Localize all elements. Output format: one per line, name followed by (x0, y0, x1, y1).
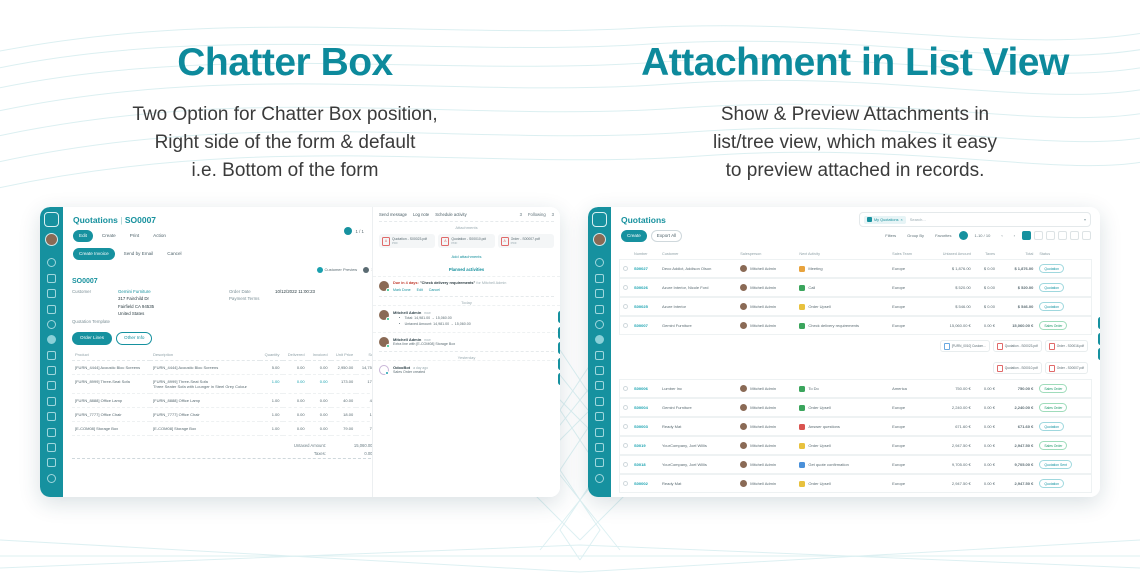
customer-preview-button[interactable]: Customer Preview (317, 267, 358, 273)
settings-icon[interactable] (47, 474, 56, 483)
cell-quantity: 5.00 (260, 360, 283, 374)
payment-terms-label: Payment Terms (229, 296, 275, 301)
messages-icon[interactable] (595, 258, 604, 267)
attachment-chip[interactable]: A Order - S00007.pdf PDF (498, 234, 554, 248)
activity-icon (799, 304, 805, 310)
fields-left-column: CustomerGemini Furniture 317 Fairchild D… (72, 289, 229, 327)
col-taxes[interactable]: Taxes (974, 250, 998, 258)
col-number[interactable]: Number (631, 250, 659, 258)
address-line-1: 317 Fairchild Dr (118, 296, 149, 301)
attachment-chip[interactable]: Order - S00016.pdf (1045, 340, 1088, 352)
status-dot (386, 288, 390, 292)
cell-salesperson: Mitchell Admin (750, 462, 776, 467)
cancel-activity-button[interactable]: Cancel (429, 288, 440, 292)
status-badge: Quotation Sent (1039, 460, 1072, 469)
contacts-icon[interactable] (595, 305, 604, 314)
subtitle-line: i.e. Bottom of the form (0, 157, 570, 185)
planned-activities-header[interactable]: Planned activities (373, 263, 560, 276)
cell-delivered: 0.00 (283, 360, 308, 374)
subtitle-line: Right side of the form & default (0, 129, 570, 157)
cell-number[interactable]: S00004 (634, 405, 648, 410)
send-message-button[interactable]: Send message (379, 212, 407, 217)
search-icon[interactable]: ⌕ (1098, 333, 1100, 345)
cell-salesperson: Mitchell Admin (750, 443, 776, 448)
following-button[interactable]: Following (528, 212, 546, 217)
cancel-button[interactable]: Cancel (162, 249, 186, 259)
table-row[interactable]: S00006Lumber IncMitchell AdminTo DoAmeri… (620, 380, 1091, 397)
order-date-label: Order Date (229, 289, 275, 294)
view-controls: Filters Group By Favorites 1-10 / 10 ‹ › (850, 227, 1100, 243)
cell-total: $ 546.00 (998, 298, 1036, 315)
cell-sales-team: Europe (889, 418, 925, 435)
inventory-icon[interactable] (595, 366, 604, 375)
cell-salesperson: Mitchell Admin (750, 323, 776, 328)
avatar (740, 404, 747, 411)
order-totals: Untaxed Amount:15,060.00 € Taxes:0.00 € … (72, 442, 386, 460)
cell-description: [FURN_8888] Office Lamp (150, 393, 260, 407)
avatar (740, 284, 747, 291)
purchase-icon[interactable] (47, 397, 56, 406)
cell-next-activity: Order Upsell (808, 405, 830, 410)
cell-invoiced: 0.00 (308, 407, 331, 421)
manufacturing-icon[interactable] (595, 381, 604, 390)
invoicing-icon[interactable] (47, 351, 56, 360)
attachment-chip[interactable]: A Quotation - S00023.pdf PDF (379, 234, 435, 248)
attachment-chip[interactable]: A Quotation - S00010.pdf PDF (438, 234, 494, 248)
col-salesperson[interactable]: Salesperson (737, 250, 796, 258)
close-icon[interactable]: × (900, 218, 902, 222)
table-row[interactable]: S00007Gemini FurnitureMitchell AdminChec… (620, 317, 1091, 334)
cell-unit-price: 40.00 (331, 393, 357, 407)
table-row[interactable]: S0018YourCompany, Joel WillisMitchell Ad… (620, 456, 1091, 473)
sales-icon[interactable] (595, 335, 604, 344)
taxes-value: 0.00 € (336, 451, 376, 456)
table-footer-totals: $6,771.60 0.00 $6,771.60 (611, 494, 1100, 497)
pivot-view-icon[interactable] (1058, 231, 1067, 240)
cell-taxes: 0.00 € (974, 437, 998, 454)
website-icon[interactable] (47, 412, 56, 421)
cell-product: [E-COM08] Storage Box (72, 421, 150, 435)
list-view-icon[interactable] (1022, 231, 1031, 240)
cell-number[interactable]: S00003 (634, 424, 648, 429)
cell-untaxed: 9,705.00 € (926, 456, 974, 473)
order-lines-table: Product Description Quantity Delivered I… (72, 349, 386, 436)
avatar-bot (379, 365, 389, 375)
grid-icon[interactable]: ▦ (1098, 348, 1100, 360)
cell-total: 2,947.50 € (998, 437, 1036, 454)
avatar (740, 265, 747, 272)
star-icon[interactable]: ★ (1098, 317, 1100, 329)
activity-view-icon[interactable] (1082, 231, 1091, 240)
row-checkbox[interactable] (620, 456, 631, 473)
col-invoiced[interactable]: Invoiced (308, 349, 331, 361)
search-icon[interactable]: ⌕ (558, 327, 560, 339)
export-all-button[interactable]: Export All (651, 230, 682, 242)
day-separator-yesterday: Yesterday (379, 351, 554, 360)
status-badge: Quotation (1039, 479, 1064, 488)
eye-icon (317, 267, 323, 273)
favorites-button[interactable]: Favorites (931, 231, 955, 240)
followers-count[interactable]: 3 (520, 212, 522, 217)
list-view-mockup: Quotations Create Export All My Quotatio… (588, 207, 1100, 497)
status-badge: Quotation (1039, 422, 1064, 431)
select-all-checkbox[interactable] (620, 250, 631, 258)
cell-number[interactable]: S0018 (634, 462, 646, 467)
message-author: Mitchell Admin (393, 310, 421, 315)
message-body: Extra line with [E-COM08] Storage Box (393, 342, 554, 347)
cell-invoiced: 0.00 (308, 421, 331, 435)
cell-taxes: 0.00 € (974, 475, 998, 492)
activity-icon (799, 424, 805, 430)
form-sheet: Customer Preview 1 Delivery SO0007 Custo… (63, 264, 395, 460)
filter-icon (867, 217, 872, 222)
floating-action-buttons: ★ ⌕ ▦ ⚙ ▣ (558, 311, 560, 385)
cell-taxes: $ 0.00 (974, 260, 998, 277)
cell-sales-team: Europe (889, 279, 925, 296)
chevron-down-icon[interactable]: ▾ (1084, 217, 1086, 222)
status-badge: Sales Order (1039, 321, 1067, 330)
col-sales-team[interactable]: Sales Team (889, 250, 925, 258)
form-fields: CustomerGemini Furniture 317 Fairchild D… (63, 289, 395, 327)
cell-product: [FURN_7777] Office Chair (72, 407, 150, 421)
row-checkbox[interactable] (620, 279, 631, 296)
website-icon[interactable] (595, 412, 604, 421)
message-body: Sales Order created (393, 370, 554, 375)
attachment-toggle-icon[interactable] (959, 231, 968, 240)
cell-unit-price: 18.00 (331, 407, 357, 421)
print-button[interactable]: Print (125, 231, 144, 241)
table-row[interactable]: [FURN_7777] Office Chair [FURN_7777] Off… (72, 407, 386, 421)
pdf-icon (1049, 343, 1055, 350)
address-line-2: Fairfield CA 94535 (118, 304, 154, 309)
form-notebook-tabs: Order Lines Other Info (63, 326, 395, 349)
calendar-icon[interactable] (595, 289, 604, 298)
form-view-mockup: Quotations | SO0007 Edit Create Print Ac… (40, 207, 560, 497)
cell-sales-team: Europe (889, 475, 925, 492)
table-row[interactable]: S00027Deco Addict, Addison OlsonMitchell… (620, 260, 1091, 277)
crm-icon[interactable] (47, 320, 56, 329)
log-note-button[interactable]: Log note (413, 212, 429, 217)
edit-button[interactable]: Edit (73, 230, 93, 242)
cell-customer: Gemini Furniture (659, 317, 737, 334)
settings-icon[interactable] (595, 474, 604, 483)
cell-sales-team: Europe (889, 456, 925, 473)
messages-icon[interactable] (47, 258, 56, 267)
avatar (740, 385, 747, 392)
contacts-icon[interactable] (47, 305, 56, 314)
cell-salesperson: Mitchell Admin (750, 285, 776, 290)
search-bar[interactable]: My Quotations × Search... ▾ (859, 212, 1091, 227)
customer-value[interactable]: Gemini Furniture (118, 289, 151, 294)
graph-view-icon[interactable] (1070, 231, 1079, 240)
cell-sales-team: Europe (889, 399, 925, 416)
message-time: now (424, 311, 430, 315)
attachment-name: [FURN_0010] Custom... (952, 344, 986, 348)
tab-other-info[interactable]: Other Info (116, 332, 152, 345)
cell-unit-price: 173.00 (331, 374, 357, 393)
purchase-icon[interactable] (595, 397, 604, 406)
crm-icon[interactable] (595, 320, 604, 329)
search-facet-my-quotations[interactable]: My Quotations × (864, 216, 906, 224)
col-product[interactable]: Product (72, 349, 150, 361)
col-description[interactable]: Description (150, 349, 260, 361)
cell-product: [FURN_8888] Office Lamp (72, 393, 150, 407)
cell-number[interactable]: S0019 (634, 443, 646, 448)
cell-untaxed: 2,240.00 € (926, 399, 974, 416)
table-row[interactable]: [FURN_8888] Office Lamp [FURN_8888] Offi… (72, 393, 386, 407)
cell-number[interactable]: S00006 (634, 386, 648, 391)
table-row[interactable]: S0019YourCompany, Joel WillisMitchell Ad… (620, 437, 1091, 454)
status-dot (386, 344, 390, 348)
table-row[interactable]: [E-COM08] Storage Box [E-COM08] Storage … (72, 421, 386, 435)
star-icon[interactable]: ★ (558, 311, 560, 323)
status-dot (385, 371, 389, 375)
table-row[interactable]: S00025Azure InteriorMitchell AdminOrder … (620, 298, 1091, 315)
blank-label (72, 296, 118, 301)
manufacturing-icon[interactable] (47, 381, 56, 390)
col-unit-price[interactable]: Unit Price (331, 349, 357, 361)
cell-customer: Azure Interior (659, 298, 737, 315)
avatar (379, 337, 389, 347)
cell-next-activity: Meeting (808, 266, 822, 271)
table-body: S00027Deco Addict, Addison OlsonMitchell… (620, 260, 1091, 492)
cell-total: 2,240.00 € (998, 399, 1036, 416)
calendar-view-icon[interactable] (1046, 231, 1055, 240)
cell-taxes: 0.00 € (974, 380, 998, 397)
col-quantity[interactable]: Quantity (260, 349, 283, 361)
col-total[interactable]: Total (998, 250, 1036, 258)
status-badge: Quotation (1039, 264, 1064, 273)
cell-untaxed: 750.00 € (926, 380, 974, 397)
settings-icon[interactable]: ⚙ (558, 358, 560, 370)
form-view-body: Quotations | SO0007 Edit Create Print Ac… (63, 207, 560, 497)
apps-icon[interactable] (47, 458, 56, 467)
cell-number[interactable]: S00025 (634, 304, 648, 309)
col-status[interactable]: Status (1036, 250, 1091, 258)
app-sidebar[interactable] (588, 207, 611, 497)
cell-sales-team: America (889, 380, 925, 397)
row-checkbox[interactable] (620, 260, 631, 277)
panel-subtitle: Two Option for Chatter Box position, Rig… (0, 101, 570, 185)
avatar (740, 442, 747, 449)
table-row[interactable]: S00003Ready MatMitchell AdminAnswer ques… (620, 418, 1091, 435)
cell-customer: YourCompany, Joel Willis (659, 437, 737, 454)
untaxed-value: 15,060.00 € (336, 443, 376, 448)
blank-label (72, 311, 118, 316)
fields-right-column: Order Date10/12/2022 11:00:23 Payment Te… (229, 289, 386, 327)
employees-icon[interactable] (595, 428, 604, 437)
activity-icon (799, 481, 805, 487)
cell-description: [FURN_8999] Three-Seat Sofa Three Seater… (150, 374, 260, 393)
attachment-chip[interactable]: [FURN_0010] Custom... (940, 340, 990, 352)
cell-taxes: 0.00 € (974, 418, 998, 435)
schedule-activity-button[interactable]: Schedule activity (435, 212, 466, 217)
cell-salesperson: Mitchell Admin (750, 386, 776, 391)
total-row: Taxes:0.00 € (72, 450, 376, 458)
row-checkbox[interactable] (620, 475, 631, 492)
cell-unit-price: 2,950.00 (331, 360, 357, 374)
recruitment-icon[interactable] (47, 443, 56, 452)
attachment-type: PDF (451, 241, 457, 245)
invoicing-icon[interactable] (595, 351, 604, 360)
action-button[interactable]: Action (148, 231, 171, 241)
table-row[interactable]: [FURN_8999] Three-Seat Sofa [FURN_8999] … (72, 374, 386, 393)
cell-taxes: 0.00 € (974, 456, 998, 473)
pdf-icon (997, 365, 1003, 372)
cell-untaxed: 2,947.50 € (926, 475, 974, 492)
search-input[interactable]: Search... (910, 217, 1080, 222)
cell-invoiced: 0.00 (308, 360, 331, 374)
calendar-icon[interactable] (47, 289, 56, 298)
smart-button-label: Customer Preview (325, 267, 358, 272)
app-sidebar[interactable] (40, 207, 63, 497)
pager-prev-icon[interactable]: ‹ (997, 231, 1006, 240)
cell-customer: Gemini Furniture (659, 399, 737, 416)
pdf-icon (997, 343, 1003, 350)
megaphone-icon[interactable] (47, 274, 56, 283)
row-checkbox[interactable] (620, 380, 631, 397)
message-item: Mitchell Adminnow Extra line with [E-COM… (373, 332, 560, 351)
table-row[interactable]: S00002Ready MatMitchell AdminOrder Upsel… (620, 475, 1091, 492)
cell-number[interactable]: S00007 (634, 323, 648, 328)
attachment-chip[interactable]: Quotation - S00010.pdf (993, 362, 1042, 374)
cell-total: $ 1,876.00 (998, 260, 1036, 277)
cell-number[interactable]: S00026 (634, 285, 648, 290)
list-toolbar: Create Export All (611, 230, 850, 248)
tab-order-lines[interactable]: Order Lines (72, 332, 112, 345)
attachment-row: [FURN_0010] Custom...Quotation - S00023.… (620, 336, 1091, 356)
cell-quantity: 1.00 (260, 393, 283, 407)
avatar[interactable] (593, 233, 606, 246)
row-checkbox[interactable] (620, 317, 631, 334)
pager[interactable]: 1 / 1 (344, 227, 364, 235)
col-next-activity[interactable]: Next Activity (796, 250, 889, 258)
attachment-type: PDF (392, 241, 398, 245)
row-checkbox[interactable] (620, 437, 631, 454)
cell-description: [FURN_4444] Acoustic Bloc Screens (150, 360, 260, 374)
send-by-email-button[interactable]: Send by Email (119, 249, 159, 259)
cell-total: 15,060.00 € (998, 317, 1036, 334)
row-checkbox[interactable] (620, 399, 631, 416)
pager-label[interactable]: 1-10 / 10 (971, 231, 995, 240)
followers-total[interactable]: 3 (552, 212, 554, 217)
cell-sales-team: Europe (889, 437, 925, 454)
cell-customer: Lumber Inc (659, 380, 737, 397)
status-badge: Sales Order (1039, 441, 1067, 450)
activity-icon (799, 405, 805, 411)
grid-icon[interactable]: ▦ (558, 342, 560, 354)
create-button[interactable]: Create (621, 230, 647, 242)
pager-next-icon[interactable]: › (1010, 231, 1019, 240)
order-date-value: 10/12/2022 11:00:23 (275, 289, 315, 294)
cell-customer: Azure Interior, Nicole Ford (659, 279, 737, 296)
cell-number[interactable]: S00027 (634, 266, 648, 271)
activity-actions: Mark Done Edit Cancel (393, 285, 554, 292)
cell-next-activity: Order Upsell (808, 481, 830, 486)
activity-icon (799, 266, 805, 272)
avatar (740, 423, 747, 430)
apps-icon[interactable] (595, 458, 604, 467)
cell-next-activity: To Do (808, 386, 818, 391)
table-row[interactable]: [FURN_4444] Acoustic Bloc Screens [FURN_… (72, 360, 386, 374)
breadcrumb-root[interactable]: Quotations (73, 215, 118, 225)
sales-icon[interactable] (47, 335, 56, 344)
cell-description: [E-COM08] Storage Box (150, 421, 260, 435)
cell-salesperson: Mitchell Admin (750, 424, 776, 429)
activity-title: "Check delivery requirements" (420, 281, 476, 285)
total-row: Total:15,060.00 € (72, 458, 376, 460)
row-checkbox[interactable] (620, 418, 631, 435)
cell-next-activity: Call (808, 285, 815, 290)
inventory-icon[interactable] (47, 366, 56, 375)
avatar (740, 322, 747, 329)
chatter-toolbar: Send message Log note Schedule activity … (373, 207, 560, 221)
app-icon[interactable]: ▣ (558, 373, 560, 385)
floating-action-buttons: ★ ⌕ ▦ (1098, 317, 1100, 360)
panel-title: Attachment in List View (570, 42, 1140, 85)
cell-invoiced: 0.00 (308, 393, 331, 407)
table-row[interactable]: S00026Azure Interior, Nicole FordMitchel… (620, 279, 1091, 296)
breadcrumb-record: SO0007 (125, 215, 156, 225)
activity-icon (799, 323, 805, 329)
cell-customer: Ready Mat (659, 475, 737, 492)
app-logo-icon (592, 212, 607, 227)
cell-delivered: 0.00 (283, 407, 308, 421)
cell-next-activity: Order Upsell (808, 304, 830, 309)
attachment-chip[interactable]: Order - S00007.pdf (1045, 362, 1088, 374)
recruitment-icon[interactable] (595, 443, 604, 452)
create-invoice-button[interactable]: Create Invoice (73, 248, 115, 260)
group-by-button[interactable]: Group By (903, 231, 928, 240)
activity-due: Due in 4 days: (393, 281, 419, 285)
create-button[interactable]: Create (97, 231, 121, 241)
cell-invoiced: 0.00 (308, 374, 331, 393)
avatar (379, 310, 389, 320)
status-badge: Sales Order (1039, 384, 1067, 393)
pdf-icon: A (501, 237, 509, 246)
row-checkbox[interactable] (620, 298, 631, 315)
filters-button[interactable]: Filters (881, 231, 900, 240)
cell-total: 9,705.00 € (998, 456, 1036, 473)
attachment-chip[interactable]: Quotation - S00023.pdf (993, 340, 1042, 352)
activity-icon (799, 462, 805, 468)
quotations-table: Number Customer Salesperson Next Activit… (611, 248, 1100, 494)
megaphone-icon[interactable] (595, 274, 604, 283)
avatar[interactable] (45, 233, 58, 246)
untaxed-label: Untaxed Amount: (274, 443, 326, 448)
col-delivered[interactable]: Delivered (283, 349, 308, 361)
cell-total: 671.60 € (998, 418, 1036, 435)
list-view-body: Quotations Create Export All My Quotatio… (611, 207, 1100, 497)
pdf-icon (1049, 365, 1055, 372)
status-badge: Quotation (1039, 283, 1064, 292)
table-row[interactable]: S00004Gemini FurnitureMitchell AdminOrde… (620, 399, 1091, 416)
activity-icon (799, 285, 805, 291)
cell-number[interactable]: S00002 (634, 481, 648, 486)
cell-next-activity: Order Upsell (808, 443, 830, 448)
cell-customer: Deco Addict, Addison Olson (659, 260, 737, 277)
add-attachments-button[interactable]: Add attachments (373, 252, 560, 263)
col-customer[interactable]: Customer (659, 250, 737, 258)
attachment-row: Quotation - S00010.pdfOrder - S00007.pdf (620, 358, 1091, 378)
kanban-view-icon[interactable] (1034, 231, 1043, 240)
edit-activity-button[interactable]: Edit (417, 288, 423, 292)
avatar (740, 303, 747, 310)
pdf-icon: A (441, 237, 449, 246)
employees-icon[interactable] (47, 428, 56, 437)
col-untaxed-amount[interactable]: Untaxed Amount (926, 250, 974, 258)
mark-done-button[interactable]: Mark Done (393, 288, 411, 292)
